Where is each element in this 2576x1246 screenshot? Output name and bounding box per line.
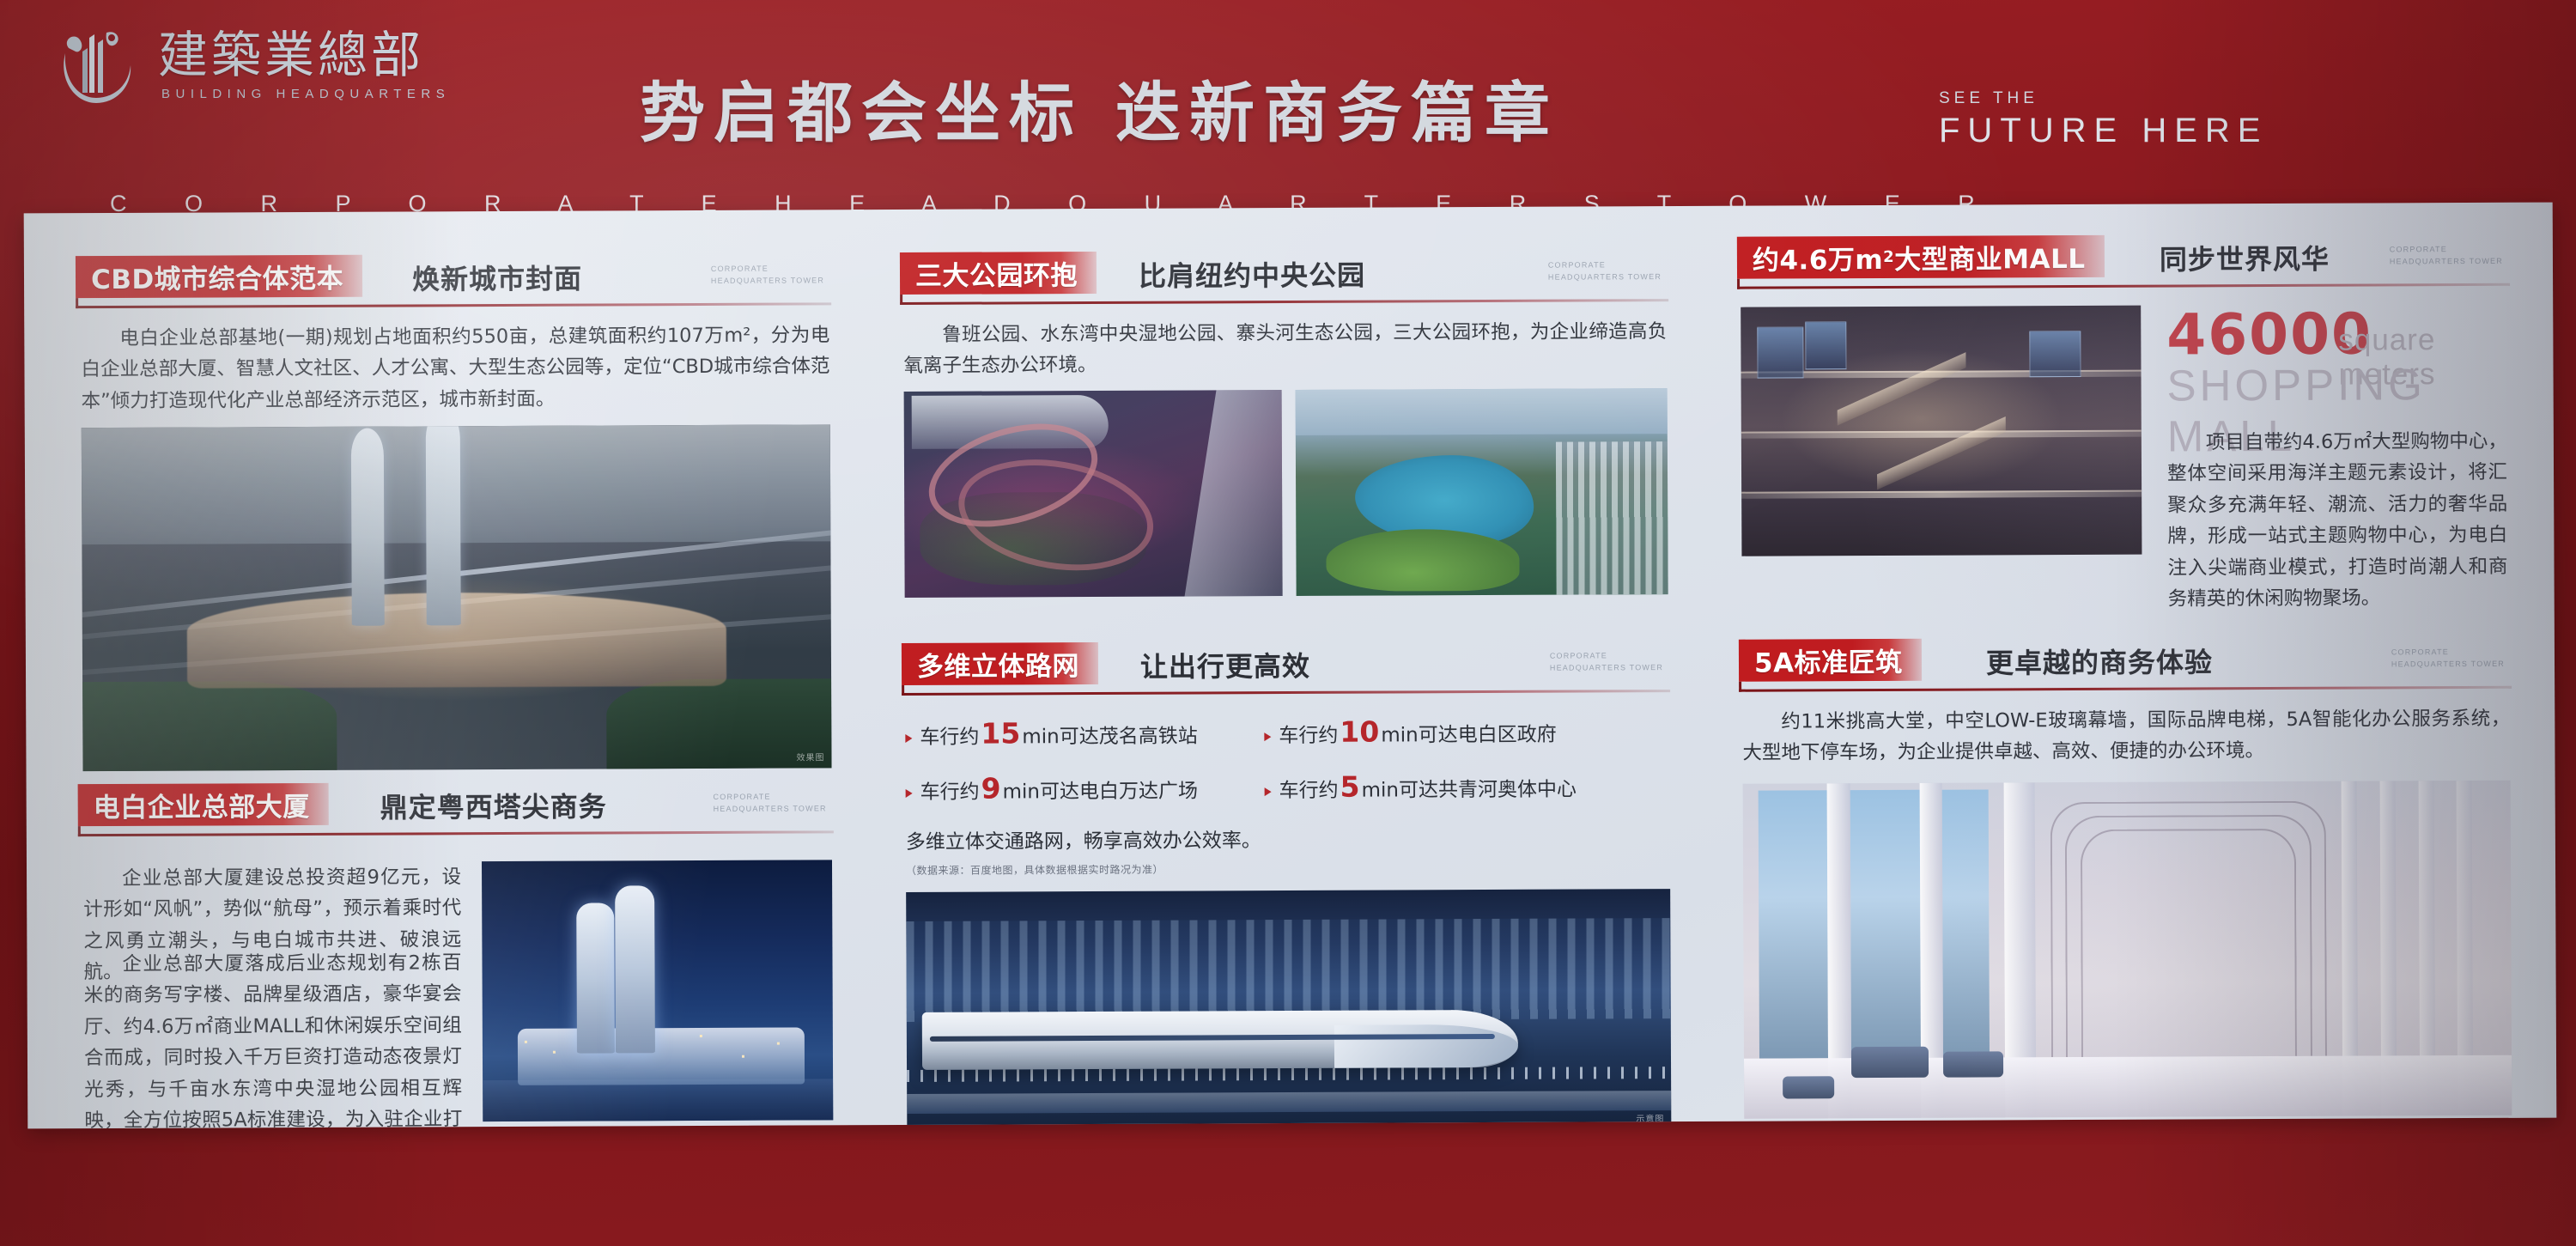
section-mall: 约4.6万m2大型商业MALL 同步世界风华 CORPORATE HEADQUA… bbox=[1737, 234, 2510, 283]
section-roads: 多维立体路网 让出行更高效 CORPORATE HEADQUARTERS TOW… bbox=[902, 640, 1670, 690]
section-parks-tag: 三大公园环抱 bbox=[900, 252, 1097, 295]
section-roads-source: （数据来源：百度地图，具体数据根据实时路况为准） bbox=[906, 862, 1163, 878]
section-tower-body-p2: 企业总部大厦落成后业态规划有2栋百米的商务写字楼、品牌星级酒店，豪华宴会厅、约4… bbox=[83, 947, 462, 1128]
section-parks-subtitle: 比肩纽约中央公园 bbox=[1139, 254, 1365, 295]
corner-mark: CORPORATE HEADQUARTERS TOWER bbox=[2390, 244, 2503, 268]
bullet-icon bbox=[1264, 732, 1271, 741]
headline-left: 势启都会坐标 bbox=[640, 75, 1083, 151]
image-watermark: 效果图 bbox=[796, 750, 824, 763]
section-roads-image: 示意图 bbox=[906, 889, 1671, 1128]
route-item: 车行约15min可达茂名高铁站 bbox=[905, 715, 1197, 750]
route-item: 车行约9min可达电白万达广场 bbox=[906, 770, 1199, 805]
section-tower-rule bbox=[78, 830, 834, 836]
section-parks-header: 三大公园环抱 比肩纽约中央公园 CORPORATE HEADQUARTERS T… bbox=[900, 249, 1668, 299]
tagline-small: SEE THE bbox=[1939, 89, 2038, 108]
image-watermark: 示意图 bbox=[1636, 1111, 1664, 1124]
section-roads-note: 多维立体交通路网，畅享高效办公效率。 bbox=[906, 824, 1261, 854]
section-mall-rule bbox=[1737, 283, 2510, 289]
section-grade5a-body: 约11米挑高大堂，中空LOW-E玻璃幕墙，国际品牌电梯，5A智能化办公服务系统，… bbox=[1742, 703, 2510, 769]
section-mall-tag: 约4.6万m2大型商业MALL bbox=[1737, 235, 2105, 279]
section-parks-image-b bbox=[1296, 388, 1668, 596]
section-grade5a-tag: 5A标准匠筑 bbox=[1739, 639, 1922, 682]
billboard-canvas: 建築業總部 BUILDING HEADQUARTERS 势启都会坐标迭新商务篇章… bbox=[0, 0, 2576, 1246]
corner-mark: CORPORATE HEADQUARTERS TOWER bbox=[2391, 647, 2505, 671]
building-crest-icon bbox=[50, 19, 143, 112]
route-item: 车行约10min可达电白区政府 bbox=[1264, 714, 1556, 749]
route-item: 车行约5min可达共青河奥体中心 bbox=[1265, 769, 1577, 805]
section-parks-body: 鲁班公园、水东湾中央湿地公园、寨头河生态公园，三大公园环抱，为企业缔造高负氧离子… bbox=[903, 316, 1667, 382]
bullet-icon bbox=[905, 733, 912, 742]
section-mall-body: 项目自带约4.6万㎡大型购物中心，整体空间采用海洋主题元素设计，将汇聚众多充满年… bbox=[2167, 426, 2508, 615]
page-title: 势启都会坐标迭新商务篇章 bbox=[640, 60, 1558, 155]
corner-mark: CORPORATE HEADQUARTERS TOWER bbox=[1550, 650, 1663, 674]
corner-mark: CORPORATE HEADQUARTERS TOWER bbox=[711, 263, 824, 287]
headline-right: 迭新商务篇章 bbox=[1115, 75, 1558, 151]
section-roads-subtitle: 让出行更高效 bbox=[1140, 645, 1310, 685]
section-tower: 电白企业总部大厦 鼎定粤西塔尖商务 CORPORATE HEADQUARTERS… bbox=[78, 781, 834, 830]
section-cbd-image: 效果图 bbox=[82, 424, 832, 771]
section-mall-subtitle: 同步世界风华 bbox=[2160, 238, 2330, 278]
column-middle: 三大公园环抱 比肩纽约中央公园 CORPORATE HEADQUARTERS T… bbox=[883, 206, 1698, 1125]
section-tower-image bbox=[482, 860, 833, 1121]
brand-name-en: BUILDING HEADQUARTERS bbox=[161, 87, 450, 101]
column-right: 约4.6万m2大型商业MALL 同步世界风华 CORPORATE HEADQUA… bbox=[1720, 203, 2531, 1121]
column-left: CBD城市综合体范本 焕新城市封面 CORPORATE HEADQUARTERS… bbox=[50, 210, 861, 1128]
section-grade5a-subtitle: 更卓越的商务体验 bbox=[1986, 641, 2213, 681]
section-tower-tag: 电白企业总部大厦 bbox=[78, 783, 329, 826]
section-cbd: CBD城市综合体范本 焕新城市封面 CORPORATE HEADQUARTERS… bbox=[76, 252, 831, 302]
section-tower-subtitle: 鼎定粤西塔尖商务 bbox=[380, 785, 607, 825]
bullet-icon bbox=[906, 788, 913, 797]
section-parks-image-a bbox=[904, 390, 1283, 598]
section-cbd-rule bbox=[76, 302, 831, 308]
section-mall-header: 约4.6万m2大型商业MALL 同步世界风华 CORPORATE HEADQUA… bbox=[1737, 234, 2510, 283]
section-tower-header: 电白企业总部大厦 鼎定粤西塔尖商务 CORPORATE HEADQUARTERS… bbox=[78, 781, 834, 830]
brand-logo-block: 建築業總部 BUILDING HEADQUARTERS bbox=[50, 19, 450, 112]
section-grade5a-image bbox=[1743, 781, 2512, 1119]
corner-mark: CORPORATE HEADQUARTERS TOWER bbox=[714, 791, 827, 815]
route-list: 车行约15min可达茂名高铁站 车行约10min可达电白区政府 车行约9min可… bbox=[905, 714, 1669, 811]
section-cbd-tag: CBD城市综合体范本 bbox=[76, 255, 362, 298]
section-grade5a-header: 5A标准匠筑 更卓越的商务体验 CORPORATE HEADQUARTERS T… bbox=[1739, 636, 2512, 686]
section-parks-rule bbox=[900, 299, 1668, 305]
section-mall-image bbox=[1741, 306, 2142, 556]
corner-mark: CORPORATE HEADQUARTERS TOWER bbox=[1548, 259, 1662, 283]
section-cbd-subtitle: 焕新城市封面 bbox=[412, 258, 582, 298]
section-parks: 三大公园环抱 比肩纽约中央公园 CORPORATE HEADQUARTERS T… bbox=[900, 249, 1668, 299]
section-cbd-header: CBD城市综合体范本 焕新城市封面 CORPORATE HEADQUARTERS… bbox=[76, 252, 831, 302]
tagline-big: FUTURE HERE bbox=[1939, 112, 2268, 150]
content-board: CBD城市综合体范本 焕新城市封面 CORPORATE HEADQUARTERS… bbox=[24, 203, 2557, 1129]
section-roads-header: 多维立体路网 让出行更高效 CORPORATE HEADQUARTERS TOW… bbox=[902, 640, 1670, 690]
section-grade5a-rule bbox=[1739, 686, 2512, 692]
bullet-icon bbox=[1265, 787, 1272, 796]
section-roads-tag: 多维立体路网 bbox=[902, 642, 1098, 685]
section-grade5a: 5A标准匠筑 更卓越的商务体验 CORPORATE HEADQUARTERS T… bbox=[1739, 636, 2512, 686]
section-roads-rule bbox=[902, 690, 1670, 696]
brand-name-cn: 建築業總部 bbox=[158, 29, 450, 82]
section-cbd-body: 电白企业总部基地(一期)规划占地面积约550亩，总建筑面积约107万m²，分为电… bbox=[81, 319, 829, 416]
